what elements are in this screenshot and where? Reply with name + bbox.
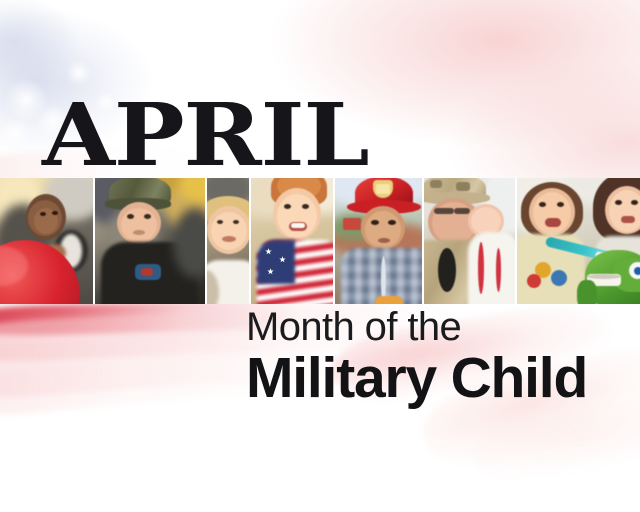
page-title-april: APRIL bbox=[42, 92, 368, 179]
title-line-military-child: Military Child bbox=[246, 349, 587, 407]
photo-panel-girl-in-flag-top bbox=[251, 178, 335, 304]
title-line-month-of-the: Month of the bbox=[246, 307, 587, 347]
photo-panel-blond-boy-smiling bbox=[207, 178, 251, 304]
title-block: Month of the Military Child bbox=[246, 307, 587, 407]
photo-panel-girls-brushing-dinosaur bbox=[517, 178, 640, 304]
photo-panel-soldier-kissing-baby bbox=[424, 178, 517, 304]
photo-panel-boy-in-fire-helmet bbox=[335, 178, 424, 304]
photo-panel-boy-in-camo-cap bbox=[95, 178, 207, 304]
poster-canvas: APRIL bbox=[0, 0, 640, 512]
photo-panel-boy-with-red-ball bbox=[0, 178, 95, 304]
photo-strip bbox=[0, 178, 640, 304]
